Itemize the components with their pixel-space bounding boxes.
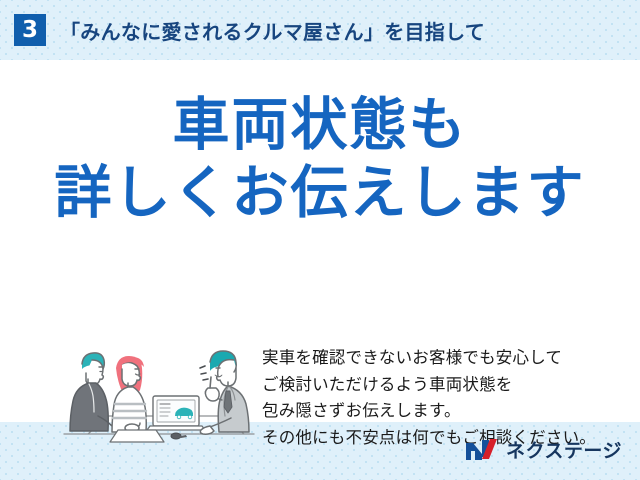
- headline-line-1: 車両状態も: [0, 95, 640, 157]
- headline-line-2: 詳しくお伝えします: [0, 163, 640, 225]
- footer: ネクステージ: [0, 422, 640, 480]
- header-title-text: 「みんなに愛されるクルマ屋さん」を目指して: [60, 22, 485, 44]
- body-copy-line-2: ご検討いただけるよう車両状態を: [262, 372, 632, 399]
- brand-logo-text: ネクステージ: [506, 436, 622, 463]
- step-number-badge: 3: [14, 14, 46, 46]
- body-copy-line-1: 実車を確認できないお客様でも安心して: [262, 345, 632, 372]
- header-title: 「みんなに愛されるクルマ屋さん」を目指して: [60, 16, 485, 45]
- headline: 車両状態も 詳しくお伝えします: [0, 95, 640, 224]
- header: 3 「みんなに愛されるクルマ屋さん」を目指して: [0, 0, 640, 60]
- nextage-n-icon: [465, 438, 499, 462]
- content-panel: 車両状態も 詳しくお伝えします: [0, 60, 640, 422]
- brand-logo: ネクステージ: [465, 436, 622, 463]
- promo-banner: 3 「みんなに愛されるクルマ屋さん」を目指して 車両状態も 詳しくお伝えします: [0, 0, 640, 480]
